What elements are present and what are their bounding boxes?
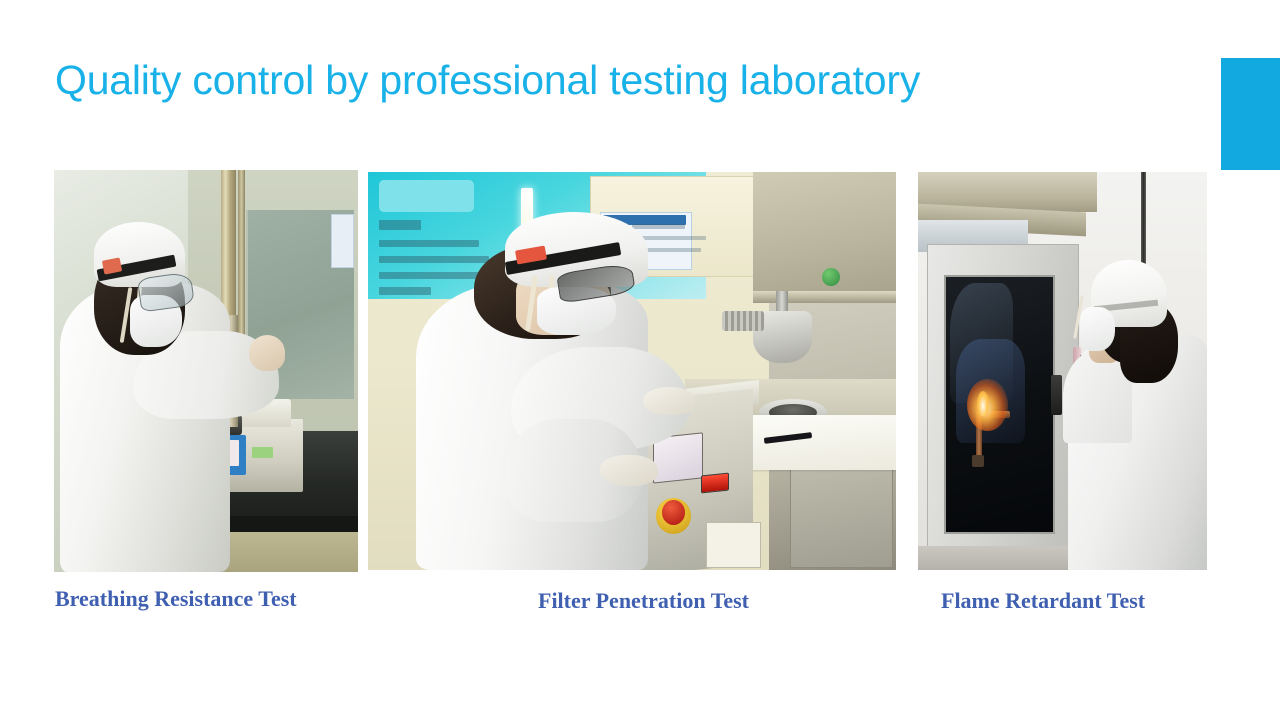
cabinet-door (790, 459, 892, 568)
photo-filter-penetration-test (368, 172, 896, 570)
test-flame-core (977, 391, 989, 416)
technician-face-mask (1080, 307, 1115, 351)
red-power-switch (701, 473, 729, 494)
technician-gloved-hand (249, 335, 285, 371)
photo-flame-retardant-test (918, 172, 1207, 570)
technician-gloved-hand-left (600, 455, 658, 487)
metal-post-secondary (238, 170, 245, 347)
caption-breathing-resistance-test: Breathing Resistance Test (55, 586, 297, 612)
green-valve-knob (822, 268, 840, 286)
emergency-stop-button (662, 500, 685, 525)
scene-breathing (54, 170, 358, 572)
poster-text-line (632, 224, 685, 230)
accent-block (1221, 58, 1280, 170)
scene-flame (918, 172, 1207, 570)
board-text-line (379, 256, 490, 264)
board-header-panel (379, 180, 474, 212)
caption-filter-penetration-test: Filter Penetration Test (538, 588, 749, 614)
burner-base (972, 455, 985, 467)
board-text-line (379, 240, 479, 248)
equipment-label-tag (706, 522, 761, 568)
board-heading-text (379, 220, 421, 230)
technician-gloved-hand-right (643, 387, 696, 415)
chamber-door-handle (1051, 375, 1063, 415)
tester-status-led (252, 447, 273, 457)
board-text-line (379, 287, 432, 295)
caption-flame-retardant-test: Flame Retardant Test (941, 588, 1145, 614)
slide: Quality control by professional testing … (0, 0, 1280, 720)
flexible-bellows-hose (722, 311, 764, 331)
photo-breathing-resistance-test (54, 170, 358, 572)
wall-notice-label (331, 214, 354, 268)
scene-filter (368, 172, 896, 570)
page-title: Quality control by professional testing … (55, 57, 920, 104)
board-text-line (379, 272, 485, 280)
lab-floor (918, 546, 1068, 570)
